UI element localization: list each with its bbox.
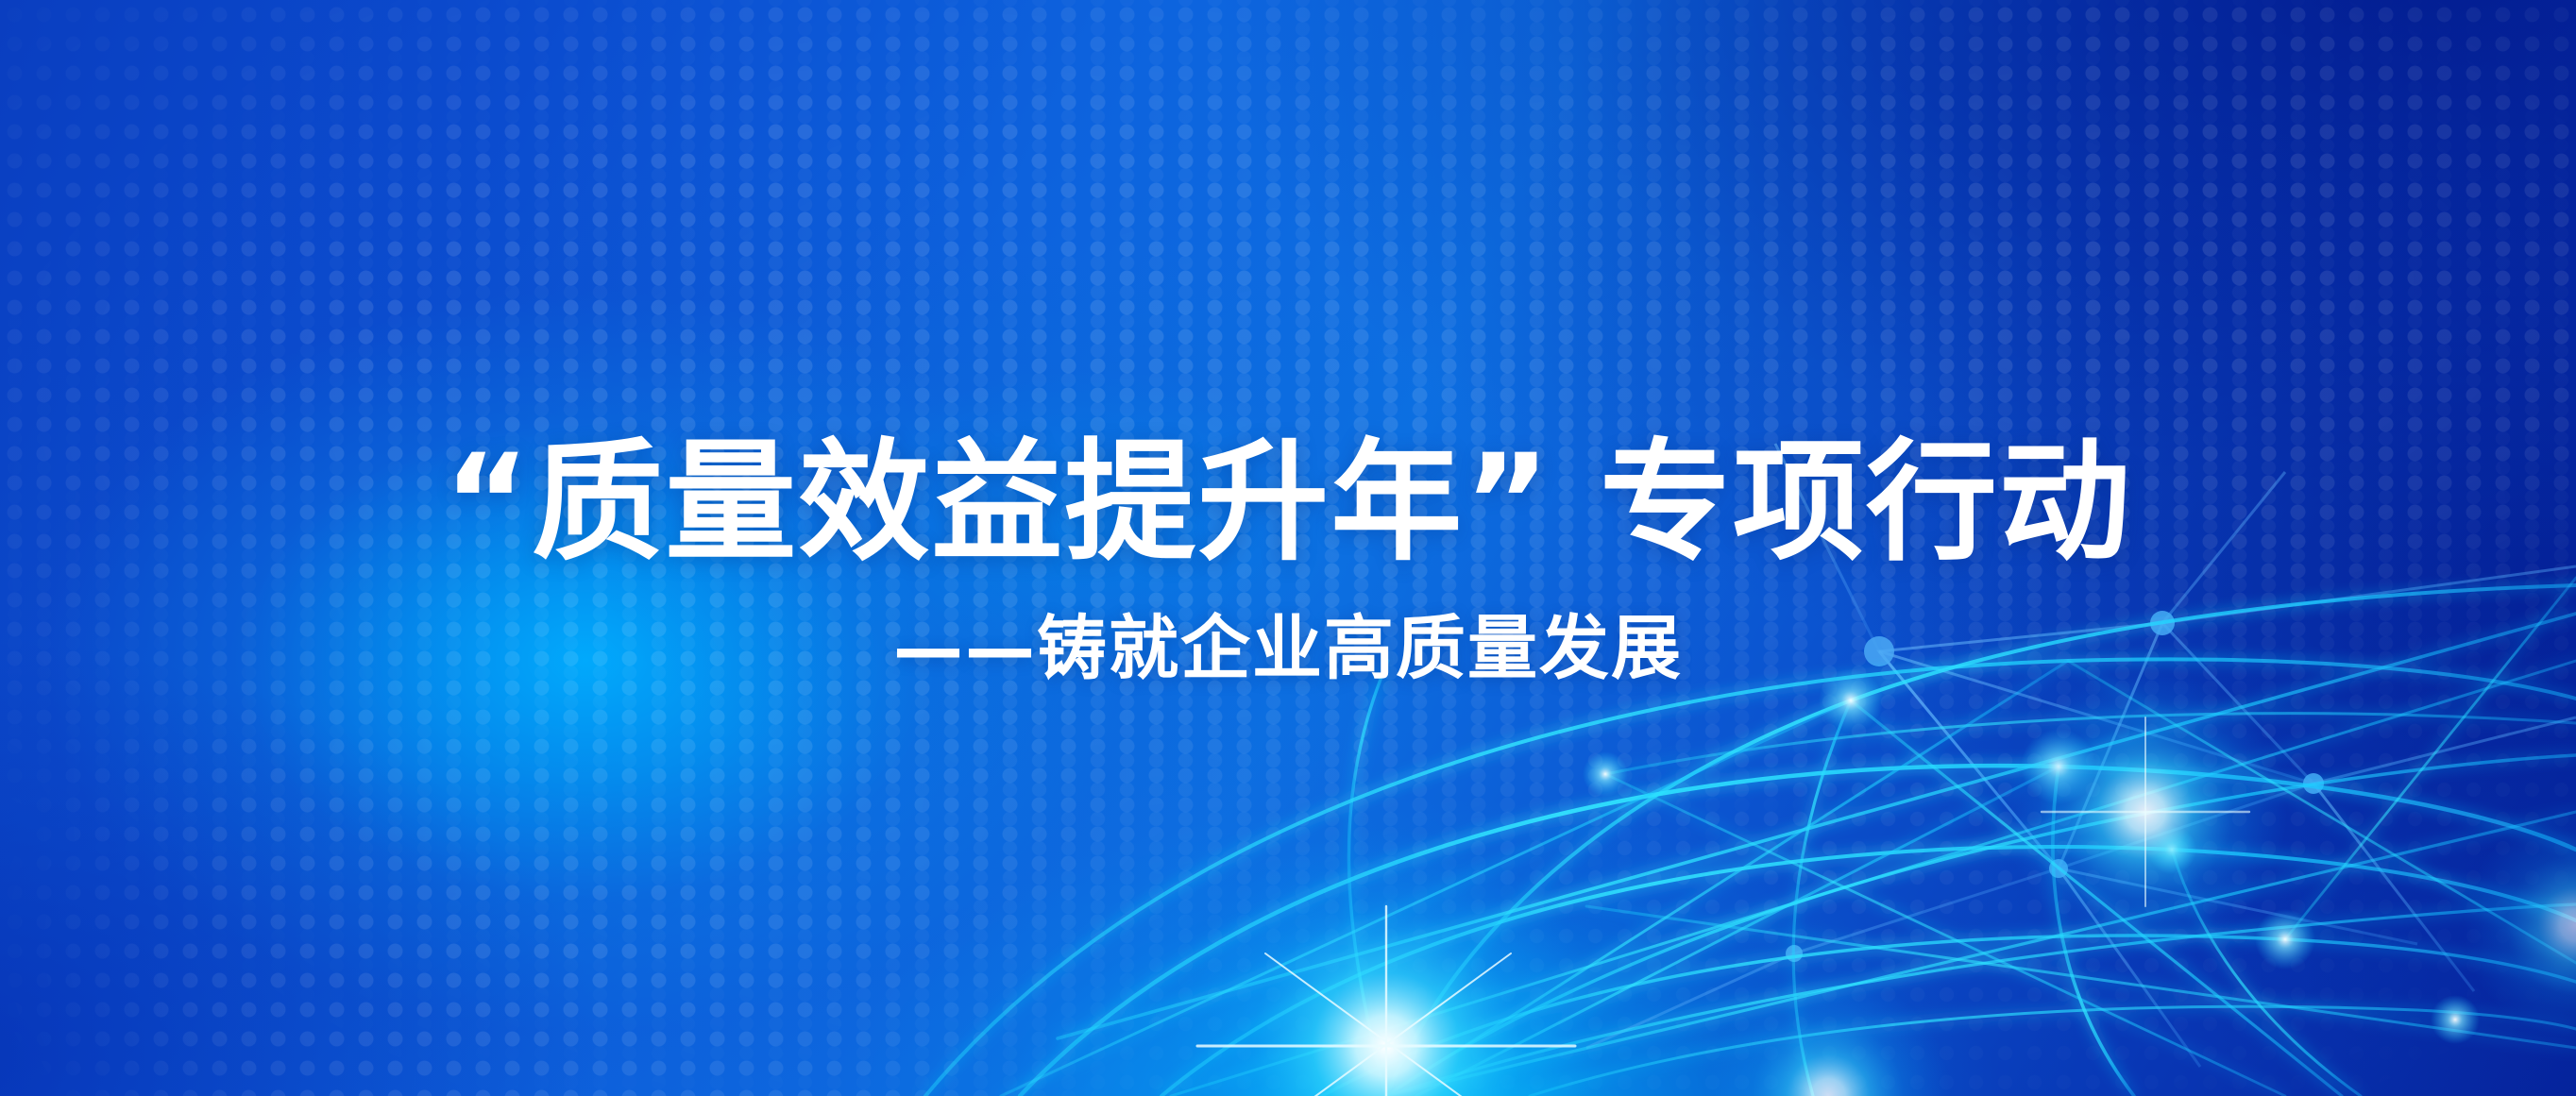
banner-hero: “质量效益提升年” 专项行动 ——铸就企业高质量发展	[0, 0, 2576, 1096]
page-subtitle: ——铸就企业高质量发展	[0, 611, 2576, 687]
page-title: “质量效益提升年” 专项行动	[0, 427, 2576, 579]
hero-text-block: “质量效益提升年” 专项行动 ——铸就企业高质量发展	[0, 427, 2576, 688]
